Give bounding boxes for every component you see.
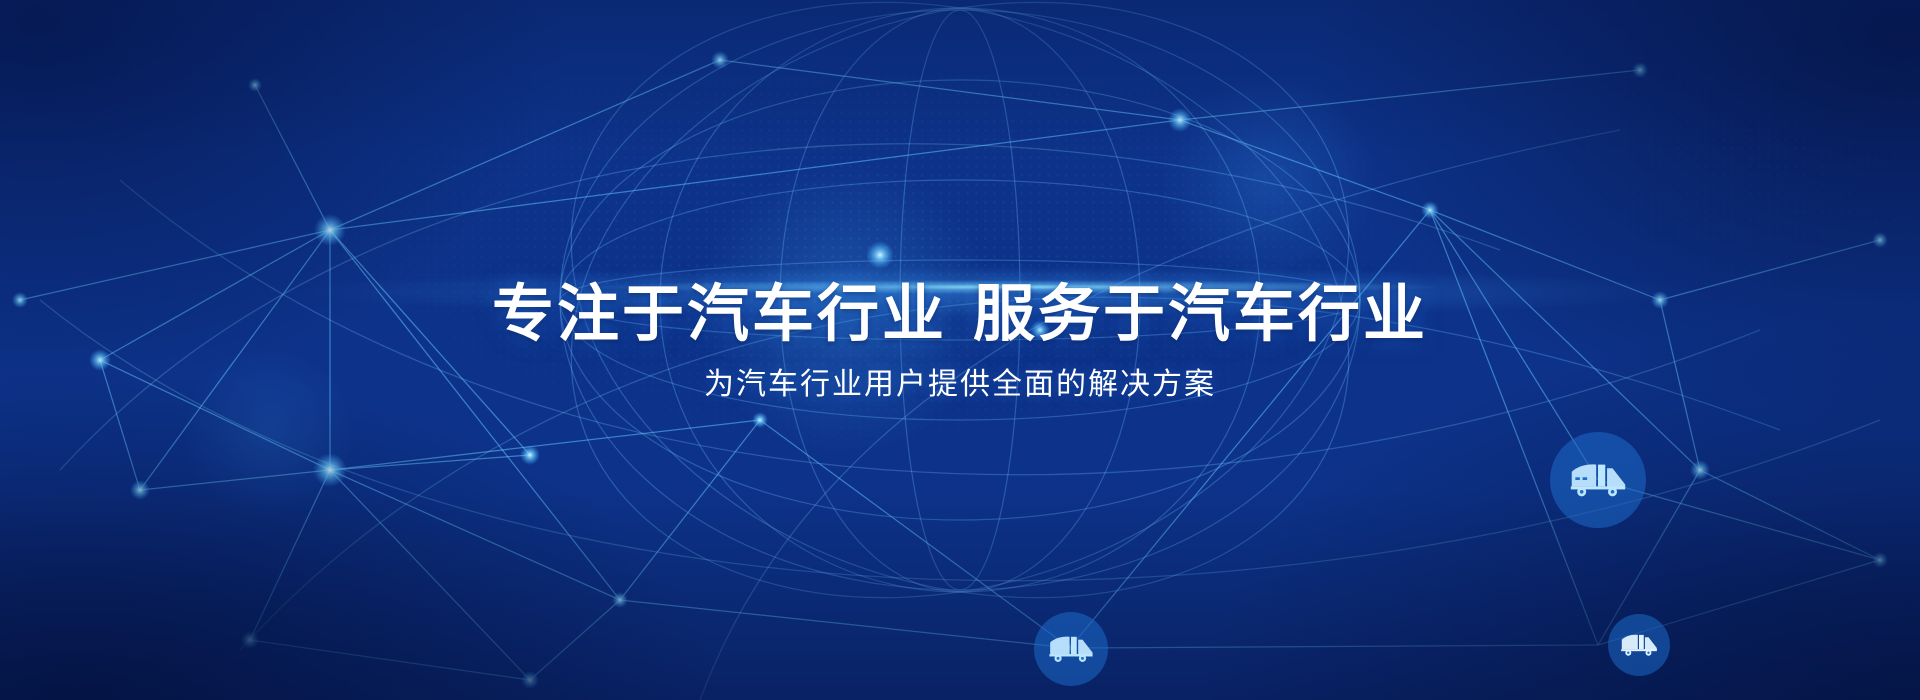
truck-badge-lower-right: [1608, 614, 1670, 676]
page-subtitle: 为汽车行业用户提供全面的解决方案: [0, 367, 1920, 403]
hero-banner: 专注于汽车行业服务于汽车行业 为汽车行业用户提供全面的解决方案: [0, 0, 1920, 700]
truck-icon: [1620, 632, 1658, 658]
truck-badge-center: [1034, 612, 1108, 686]
page-title: 专注于汽车行业服务于汽车行业: [0, 282, 1920, 349]
truck-icon: [1048, 633, 1094, 665]
hero-copy: 专注于汽车行业服务于汽车行业 为汽车行业用户提供全面的解决方案: [0, 282, 1920, 403]
orbit-arcs: [40, 130, 1880, 700]
truck-icon: [1569, 460, 1627, 500]
headline-part-1: 专注于汽车行业: [492, 280, 947, 349]
truck-badge-right: [1550, 432, 1646, 528]
headline-part-2: 服务于汽车行业: [973, 280, 1428, 349]
